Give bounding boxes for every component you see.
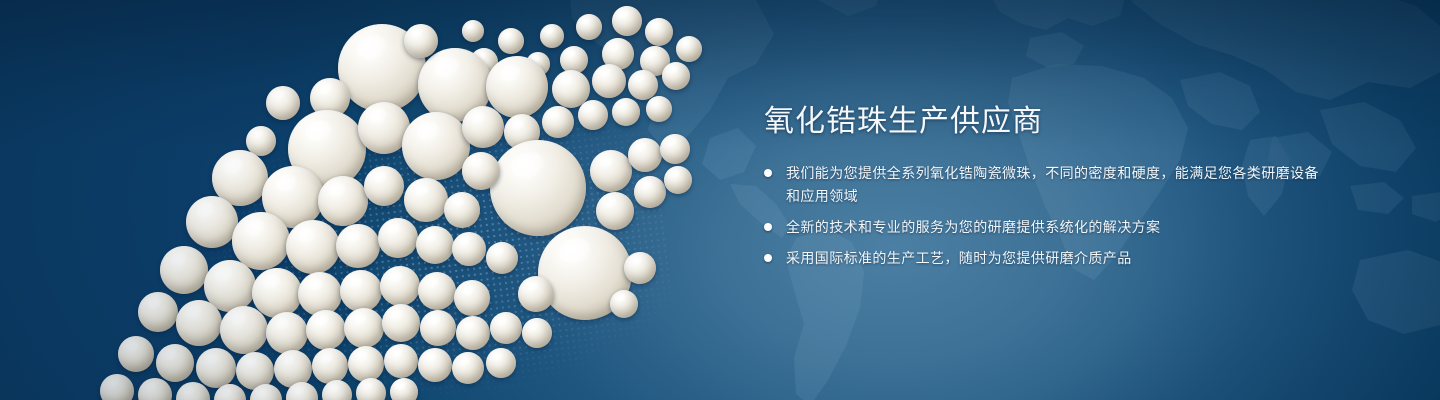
list-item: 采用国际标准的生产工艺，随时为您提供研磨介质产品 bbox=[764, 247, 1324, 270]
banner-copy: 氧化锆珠生产供应商 我们能为您提供全系列氧化锆陶瓷微珠，不同的密度和硬度，能满足… bbox=[764, 104, 1324, 278]
bullet-dot-icon bbox=[764, 254, 772, 262]
banner-bullet-list: 我们能为您提供全系列氧化锆陶瓷微珠，不同的密度和硬度，能满足您各类研磨设备和应用… bbox=[764, 162, 1324, 270]
bullet-text: 全新的技术和专业的服务为您的研磨提供系统化的解决方案 bbox=[786, 216, 1160, 239]
banner-headline: 氧化锆珠生产供应商 bbox=[764, 104, 1324, 140]
list-item: 我们能为您提供全系列氧化锆陶瓷微珠，不同的密度和硬度，能满足您各类研磨设备和应用… bbox=[764, 162, 1324, 208]
bullet-text: 我们能为您提供全系列氧化锆陶瓷微珠，不同的密度和硬度，能满足您各类研磨设备和应用… bbox=[786, 162, 1324, 208]
list-item: 全新的技术和专业的服务为您的研磨提供系统化的解决方案 bbox=[764, 216, 1324, 239]
bullet-text: 采用国际标准的生产工艺，随时为您提供研磨介质产品 bbox=[786, 247, 1132, 270]
bullet-dot-icon bbox=[764, 223, 772, 231]
bullet-dot-icon bbox=[764, 169, 772, 177]
hero-banner: 氧化锆珠生产供应商 我们能为您提供全系列氧化锆陶瓷微珠，不同的密度和硬度，能满足… bbox=[0, 0, 1440, 400]
